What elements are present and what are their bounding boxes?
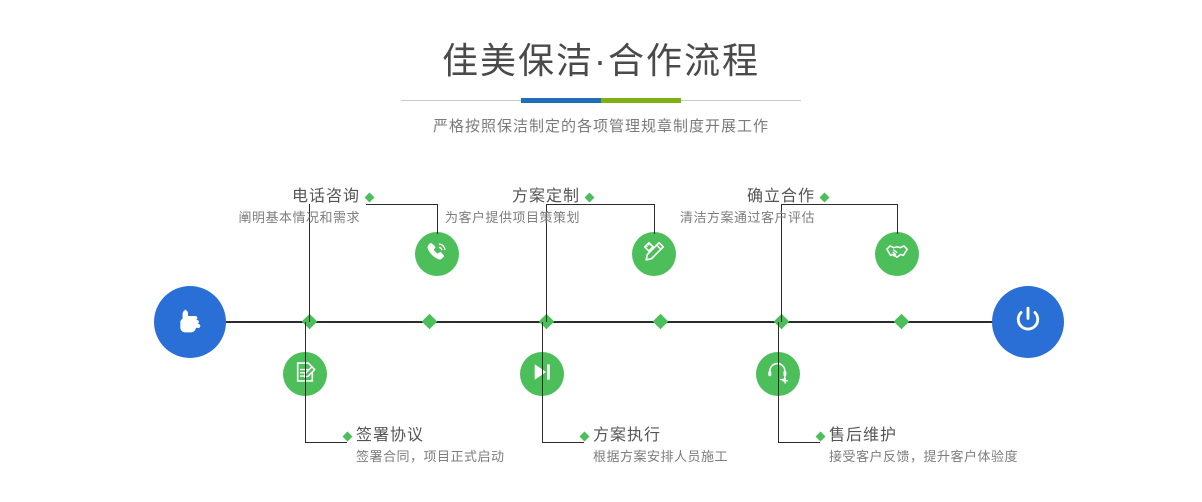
step-icon-1[interactable] — [415, 232, 459, 276]
timeline-marker-4 — [653, 314, 669, 330]
cooperation-process-infographic: 佳美保洁·合作流程 严格按照保洁制定的各项管理规章制度开展工作 — [0, 0, 1202, 502]
pointing-hand-icon — [171, 301, 209, 344]
connector-stem-6 — [778, 322, 779, 442]
process-timeline: 电话咨询 阐明基本情况和需求 签署协议 签署合同，项目正式启动 — [0, 0, 1202, 502]
step-title-3: 方案定制 — [320, 186, 580, 208]
connector-arm-6 — [778, 442, 820, 443]
timeline-marker-2 — [422, 314, 438, 330]
timeline-start-node[interactable] — [154, 286, 226, 358]
label-dot-2 — [343, 432, 353, 442]
connector-arm-4 — [542, 442, 584, 443]
step-desc-5: 清洁方案通过客户评估 — [555, 208, 815, 228]
connector-arm-5 — [826, 204, 898, 205]
timeline-end-node[interactable] — [992, 286, 1064, 358]
step-title-6: 售后维护 — [829, 425, 1149, 447]
connector-stem-2 — [305, 322, 306, 442]
phone-call-icon — [424, 239, 450, 270]
connector-arm-2 — [305, 442, 347, 443]
step-desc-6: 接受客户反馈，提升客户体验度 — [829, 447, 1149, 467]
step-icon-3[interactable] — [632, 232, 676, 276]
handshake-icon — [884, 239, 910, 270]
step-label-3: 方案定制 为客户提供项目策策划 — [320, 186, 580, 228]
step-desc-3: 为客户提供项目策策划 — [320, 208, 580, 228]
connector-stem-5 — [897, 204, 898, 234]
pencil-ruler-icon — [641, 239, 667, 270]
step-label-5: 确立合作 清洁方案通过客户评估 — [555, 186, 815, 228]
connector-stem-4 — [542, 322, 543, 442]
step-title-5: 确立合作 — [555, 186, 815, 208]
label-dot-5 — [820, 193, 830, 203]
step-icon-5[interactable] — [875, 232, 919, 276]
step-label-6: 售后维护 接受客户反馈，提升客户体验度 — [829, 425, 1149, 467]
timeline-marker-6 — [894, 314, 910, 330]
power-button-icon — [1009, 301, 1047, 344]
